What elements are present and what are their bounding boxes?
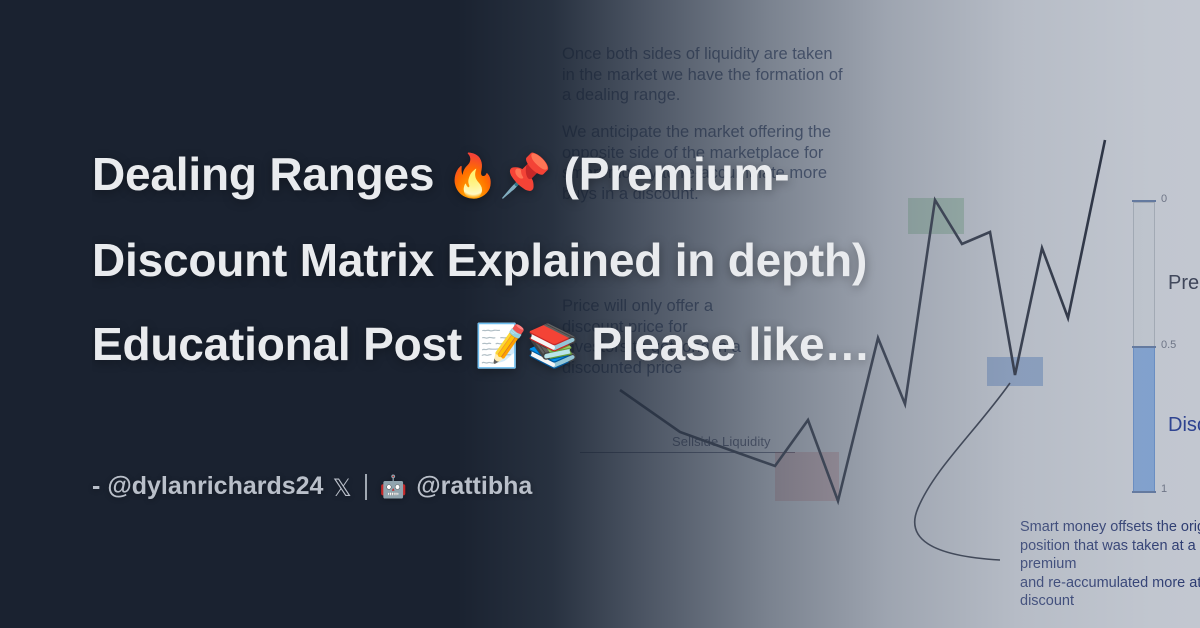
memo-books-emoji: 📝📚 [475,321,579,370]
byline-dash: - [92,472,100,501]
title-line-2-text: Discount Matrix Explained in depth) [92,234,867,286]
byline: - @dylanrichards24 𝕏 🤖 @rattibha [92,472,532,501]
title-line-1-text-before: Dealing Ranges [92,148,447,200]
title-line-1: Dealing Ranges 🔥📌 (Premium- [92,132,1092,218]
byline-separator [365,474,367,500]
x-logo-icon: 𝕏 [332,476,351,500]
social-preview-card: Once both sides of liquidity are taken i… [0,0,1200,628]
fire-pin-emoji: 🔥📌 [447,151,551,200]
title-line-1-text-after: (Premium- [551,148,789,200]
author-handle[interactable]: @dylanrichards24 [107,472,323,501]
source-handle[interactable]: @rattibha [416,472,532,501]
robot-icon: 🤖 [380,477,407,499]
title-line-2: Discount Matrix Explained in depth) [92,218,1092,302]
page-title: Dealing Ranges 🔥📌 (Premium- Discount Mat… [92,132,1092,388]
title-line-3-text-after: Please like… [579,318,870,370]
foreground-overlay: Dealing Ranges 🔥📌 (Premium- Discount Mat… [0,0,1200,628]
title-line-3: Educational Post 📝📚 Please like… [92,302,1092,388]
title-line-3-text-before: Educational Post [92,318,475,370]
